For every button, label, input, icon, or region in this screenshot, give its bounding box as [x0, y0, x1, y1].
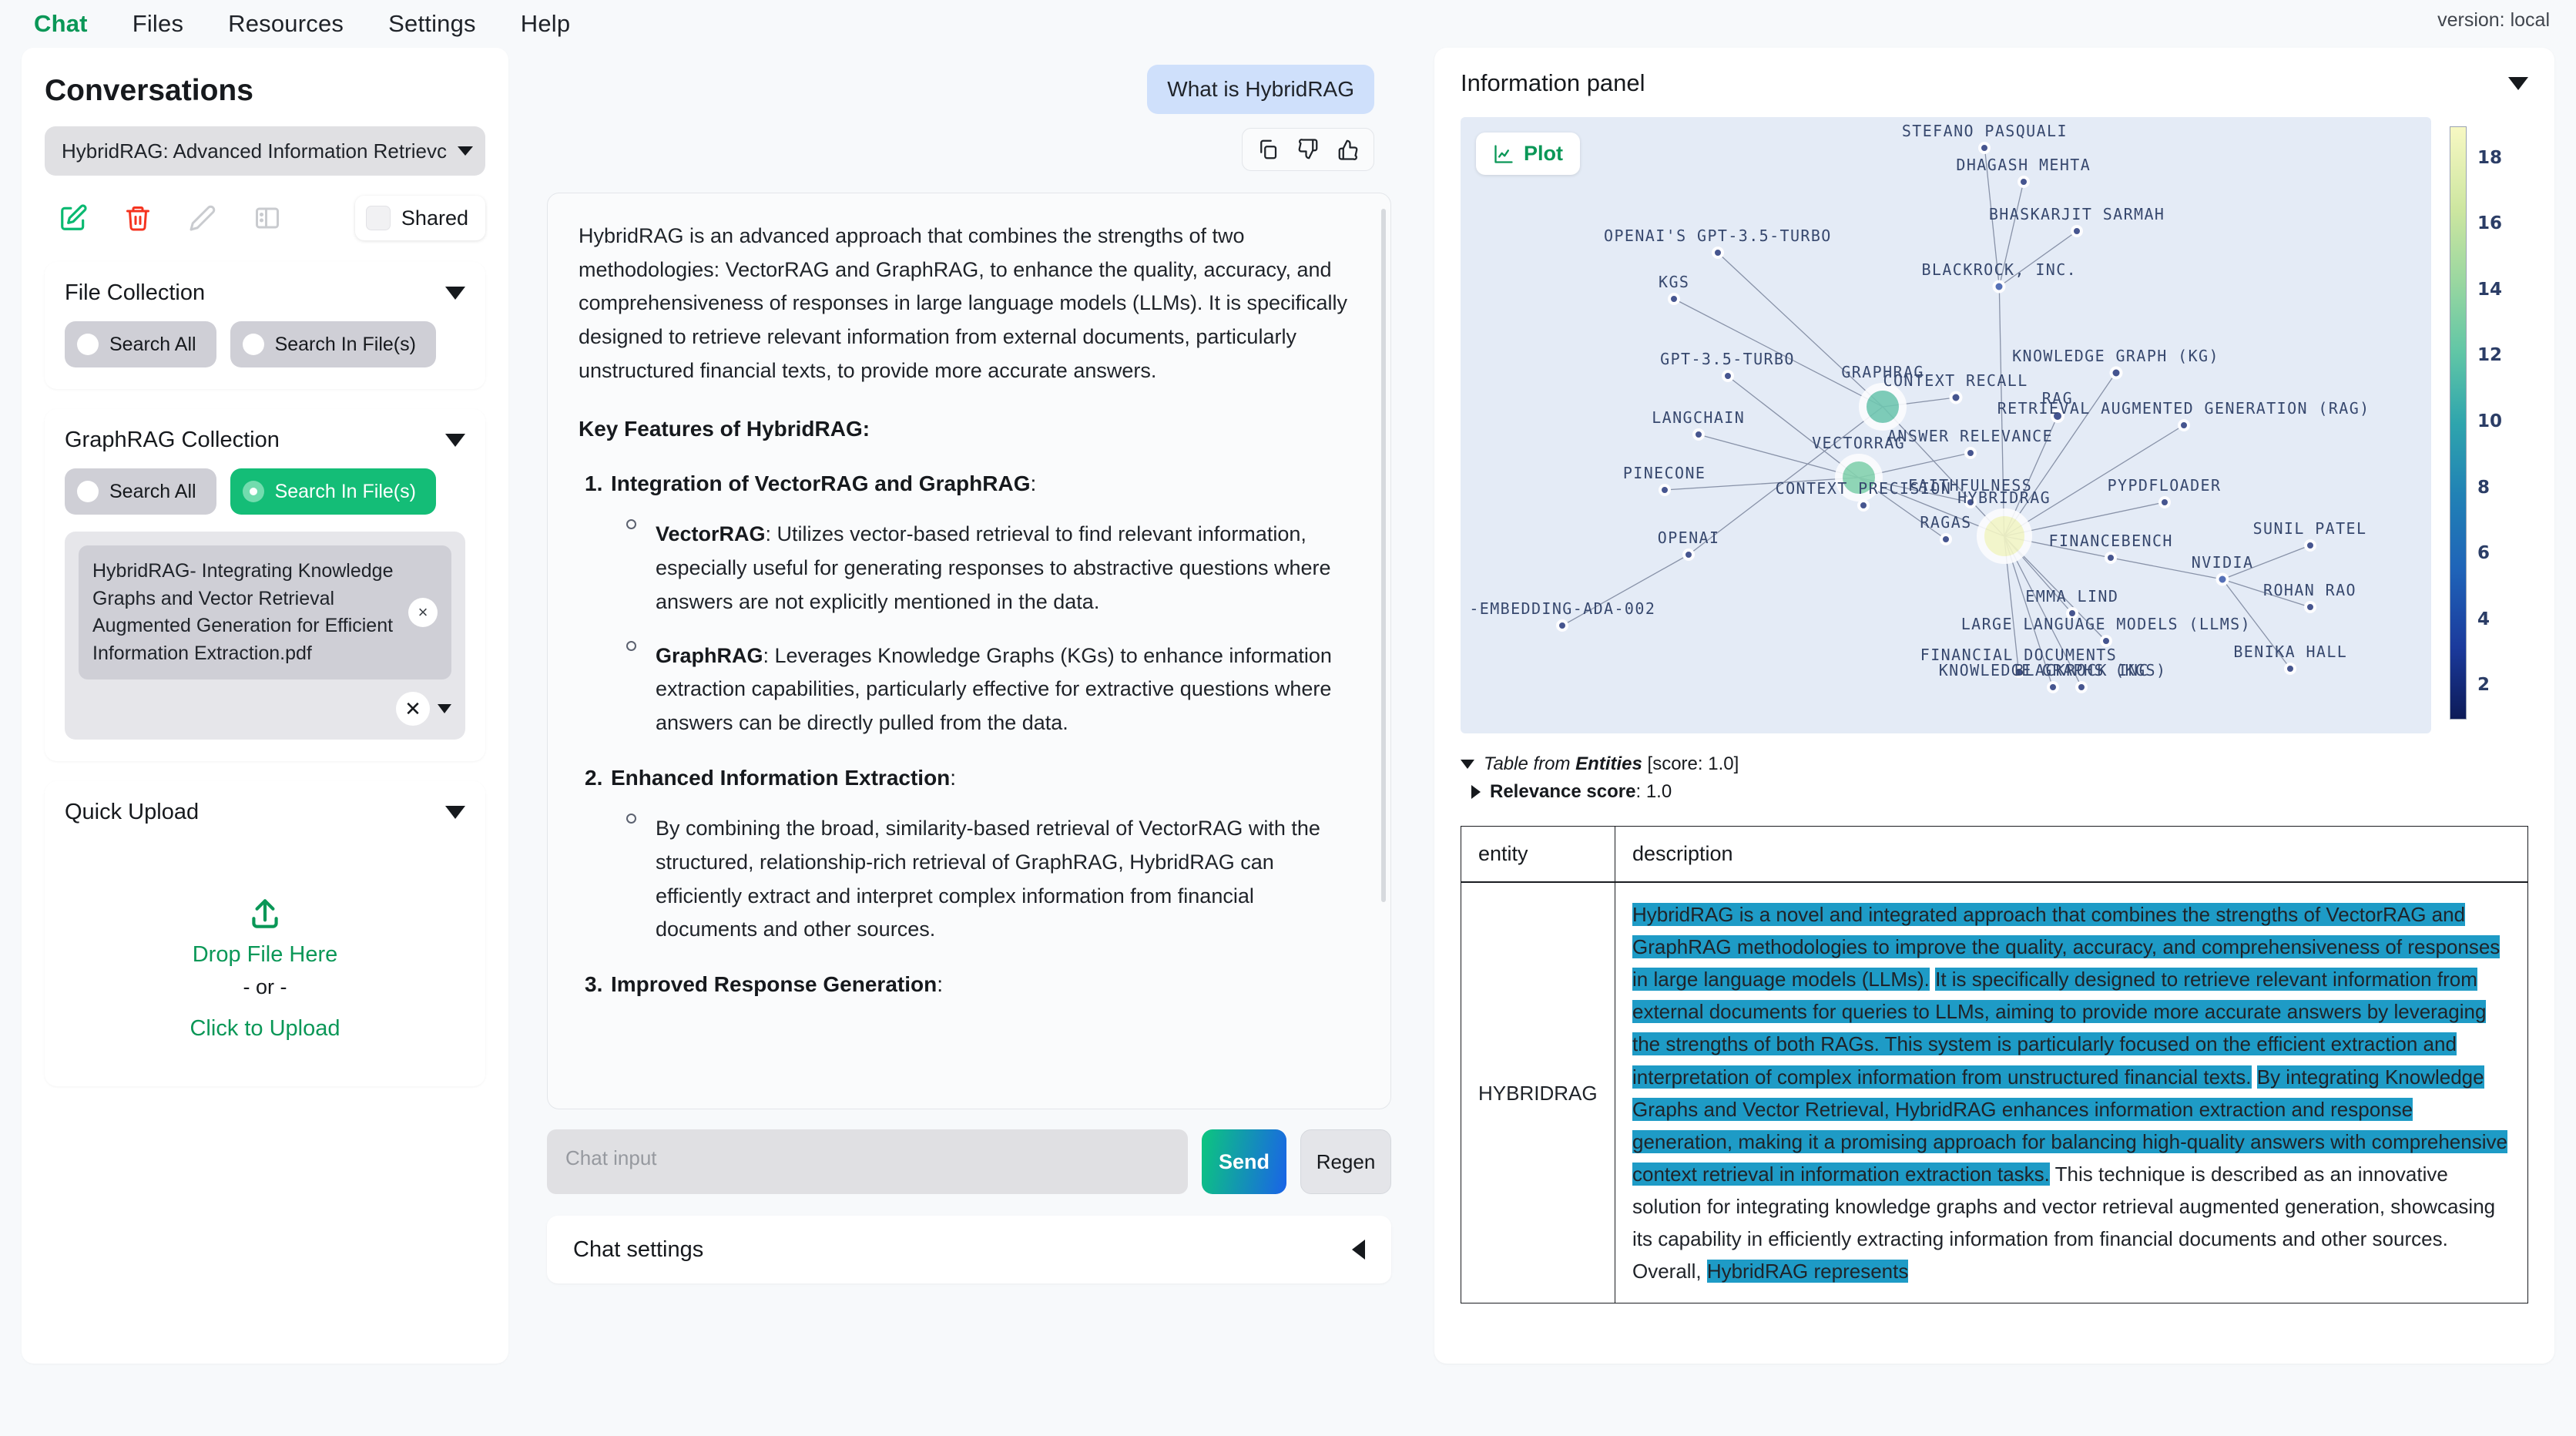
- answer-list-item: 2. Enhanced Information Extraction:: [579, 760, 1360, 795]
- version-label: version: local: [2437, 9, 2550, 32]
- graph-node[interactable]: [1682, 549, 1695, 561]
- graph-node[interactable]: [1692, 428, 1705, 441]
- radio-icon: [77, 481, 99, 502]
- graph-node[interactable]: [1712, 247, 1724, 259]
- message-actions: [1242, 128, 1374, 171]
- graph-node[interactable]: [2158, 496, 2171, 508]
- relevance-score-line[interactable]: Relevance score: 1.0: [1461, 781, 2528, 803]
- shared-label: Shared: [401, 206, 468, 230]
- answer-scrollbar[interactable]: [1381, 209, 1386, 902]
- answer-sub-item: By combining the broad, similarity-based…: [579, 812, 1360, 947]
- expand-relevance-icon[interactable]: [1471, 785, 1481, 799]
- colorbar-gradient: [2450, 126, 2467, 720]
- graph-node-label: EMMA LIND: [2025, 587, 2118, 606]
- graph-node[interactable]: [1993, 280, 2006, 294]
- plain-text: [2252, 1065, 2257, 1089]
- information-panel-header: Information panel: [1461, 69, 2528, 97]
- collapse-information-panel-icon[interactable]: [2508, 77, 2528, 90]
- graphrag-collection-options: Search All Search In File(s): [65, 468, 465, 515]
- files-dropdown-icon[interactable]: [438, 704, 451, 713]
- colorbar-tick-label: 8: [2477, 478, 2490, 498]
- quick-upload-header: Quick Upload: [65, 800, 465, 825]
- file-collection-options: Search All Search In File(s): [65, 321, 465, 367]
- relevance-score-label: Relevance score: [1490, 781, 1635, 802]
- graph-node[interactable]: [1556, 619, 1568, 632]
- table-from-score: [score: 1.0]: [1642, 753, 1739, 774]
- bullet-icon: [626, 641, 636, 651]
- click-to-upload-link[interactable]: Click to Upload: [190, 1016, 340, 1042]
- collapse-file-collection-icon[interactable]: [445, 287, 465, 300]
- graph-nodes: STEFANO PASQUALIDHAGASH MEHTABHASKARJIT …: [1461, 117, 2431, 733]
- chevron-down-icon: [458, 146, 473, 156]
- graph-node[interactable]: [1659, 484, 1671, 496]
- graphrag-collection-card: GraphRAG Collection Search All Search In…: [45, 409, 485, 761]
- graph-node-label: BHASKARJIT SARMAH: [1989, 205, 2165, 223]
- graph-node-label: PYPDFLOADER: [2108, 476, 2222, 495]
- graph-node[interactable]: [1940, 533, 1952, 545]
- graphrag-search-in-files[interactable]: Search In File(s): [230, 468, 436, 515]
- graph-node-label: STEFANO PASQUALI: [1902, 122, 2068, 140]
- assistant-answer-card: HybridRAG is an advanced approach that c…: [547, 193, 1391, 1109]
- colorbar-tick-label: 16: [2477, 213, 2502, 233]
- thumbs-up-icon[interactable]: [1337, 138, 1360, 161]
- graph-node-label: LARGE LANGUAGE MODELS (LLMS): [1961, 615, 2251, 633]
- graph-node[interactable]: [1859, 383, 1907, 431]
- table-from-source: Entities: [1575, 753, 1642, 774]
- colorbar-tick-label: 12: [2477, 345, 2502, 365]
- split-view-button[interactable]: [239, 197, 296, 239]
- relevance-score-value: 1.0: [1646, 781, 1672, 802]
- knowledge-graph-plot[interactable]: Plot STEFANO PASQUALIDHAGASH MEHTABHASKA…: [1461, 117, 2431, 733]
- graphrag-search-in-files-label: Search In File(s): [275, 481, 416, 503]
- sub-item-strong: GraphRAG: [656, 644, 763, 667]
- chat-input-row: Send Regen: [547, 1129, 1391, 1194]
- regen-button[interactable]: Regen: [1300, 1129, 1391, 1194]
- conversation-actions: Shared: [45, 196, 485, 240]
- clear-all-files-button[interactable]: ✕: [396, 692, 430, 726]
- entities-table: entity description HYBRIDRAG HybridRAG i…: [1461, 826, 2528, 1303]
- sub-item-text: By combining the broad, similarity-based…: [656, 817, 1320, 941]
- cell-description: HybridRAG is a novel and integrated appr…: [1615, 882, 2528, 1303]
- graph-node-label: NVIDIA: [2192, 553, 2254, 572]
- selected-files-footer: ✕: [79, 692, 451, 726]
- chevron-left-icon[interactable]: [1352, 1240, 1365, 1260]
- list-item-title-tail: :: [950, 766, 956, 790]
- conversation-selector[interactable]: HybridRAG: Advanced Information Retrievc: [45, 126, 485, 176]
- nav-tab-chat[interactable]: Chat: [34, 10, 88, 38]
- collapse-graphrag-collection-icon[interactable]: [445, 434, 465, 447]
- information-panel-title: Information panel: [1461, 69, 1645, 97]
- nav-tab-resources[interactable]: Resources: [228, 10, 344, 38]
- colorbar-tick-label: 4: [2477, 609, 2490, 629]
- list-item-title: Enhanced Information Extraction: [611, 766, 950, 790]
- table-row: HYBRIDRAG HybridRAG is a novel and integ…: [1461, 882, 2528, 1303]
- file-collection-card: File Collection Search All Search In Fil…: [45, 262, 485, 389]
- graph-node[interactable]: [1949, 391, 1962, 404]
- graph-node-label: -EMBEDDING-ADA-002: [1469, 599, 1655, 618]
- information-panel: Information panel Plot STEFANO PASQUALID…: [1434, 48, 2554, 1364]
- graph-node[interactable]: [2071, 225, 2083, 237]
- graph-node-label: OPENAI'S GPT-3.5-TURBO: [1604, 226, 1832, 245]
- plot-button-label: Plot: [1524, 142, 1563, 166]
- colorbar-tick-label: 14: [2477, 280, 2502, 300]
- selected-file-chip: HybridRAG- Integrating Knowledge Graphs …: [79, 545, 451, 679]
- list-number: 3.: [585, 967, 602, 1002]
- file-collection-title: File Collection: [65, 280, 205, 306]
- upload-icon: [246, 894, 284, 933]
- file-dropzone[interactable]: Drop File Here - or - Click to Upload: [65, 840, 465, 1065]
- graph-node-label: ANSWER RELEVANCE: [1887, 427, 2053, 445]
- radio-selected-icon: [243, 481, 264, 502]
- graphrag-collection-header: GraphRAG Collection: [65, 428, 465, 453]
- graphrag-search-all[interactable]: Search All: [65, 468, 216, 515]
- delete-conversation-button[interactable]: [109, 197, 166, 239]
- graph-node[interactable]: [1978, 142, 1991, 154]
- copy-icon[interactable]: [1256, 138, 1280, 161]
- quick-upload-title: Quick Upload: [65, 800, 199, 825]
- graph-node[interactable]: [2109, 367, 2122, 380]
- graph-node-label: SUNIL PATEL: [2253, 519, 2367, 538]
- answer-features-heading: Key Features of HybridRAG:: [579, 411, 1360, 446]
- bullet-icon: [626, 519, 636, 529]
- answer-sub-item: GraphRAG: Leverages Knowledge Graphs (KG…: [579, 639, 1360, 740]
- graph-node-label: DHAGASH MEHTA: [1956, 156, 2091, 174]
- user-message-row: What is HybridRAG: [530, 48, 1408, 171]
- graph-node-label: HYBRIDRAG: [1957, 488, 2051, 507]
- graph-node-label: KGS: [1659, 273, 1689, 291]
- graph-node[interactable]: [1668, 293, 1680, 305]
- graph-node[interactable]: [2304, 539, 2316, 552]
- graph-node-label: RAGAS: [1920, 513, 1971, 532]
- radio-icon: [77, 334, 99, 355]
- answer-list-item: 3. Improved Response Generation:: [579, 967, 1360, 1002]
- file-collection-search-all[interactable]: Search All: [65, 321, 216, 367]
- table-source-line[interactable]: Table from Entities [score: 1.0]: [1461, 753, 2528, 775]
- plot-button[interactable]: Plot: [1476, 133, 1580, 175]
- answer-sub-item: VectorRAG: Utilizes vector-based retriev…: [579, 518, 1360, 619]
- file-collection-search-all-label: Search All: [109, 334, 196, 356]
- colorbar-tick-label: 2: [2477, 675, 2490, 695]
- bullet-icon: [626, 814, 636, 824]
- page-title: Conversations: [45, 74, 485, 108]
- list-item-title-tail: :: [1030, 471, 1036, 495]
- shared-checkbox[interactable]: [366, 206, 391, 230]
- graph-node-label: KNOWLEDGE GRAPH (KG): [2012, 347, 2219, 365]
- drop-file-label: Drop File Here: [193, 942, 338, 968]
- graph-node-label: RETRIEVAL AUGMENTED GENERATION (RAG): [1997, 399, 2370, 418]
- graph-node[interactable]: [1857, 499, 1870, 512]
- graph-node-label: BLACKROCK INC: [2014, 661, 2149, 679]
- graph-node-label: LANGCHAIN: [1652, 408, 1745, 427]
- colorbar-tick-label: 6: [2477, 543, 2490, 563]
- list-item-title-tail: :: [937, 972, 943, 996]
- answer-list-item: 1. Integration of VectorRAG and GraphRAG…: [579, 466, 1360, 501]
- chat-settings-label: Chat settings: [573, 1237, 703, 1263]
- graph-node[interactable]: [2216, 573, 2229, 586]
- column-header-description: description: [1615, 827, 2528, 883]
- file-collection-header: File Collection: [65, 280, 465, 306]
- table-header-row: entity description: [1461, 827, 2528, 883]
- table-from-prefix: Table from: [1484, 753, 1575, 774]
- colorbar-tick-label: 18: [2477, 148, 2502, 168]
- chat-settings-bar[interactable]: Chat settings: [547, 1216, 1391, 1283]
- list-number: 1.: [585, 466, 602, 501]
- page-body: Conversations HybridRAG: Advanced Inform…: [0, 48, 2576, 1436]
- chart-icon: [1493, 143, 1514, 165]
- new-conversation-button[interactable]: [45, 197, 102, 239]
- graphrag-collection-title: GraphRAG Collection: [65, 428, 280, 453]
- trash-icon: [124, 204, 152, 232]
- upload-or-label: - or -: [243, 975, 287, 999]
- list-item-title: Improved Response Generation: [611, 972, 937, 996]
- graph-node[interactable]: [2304, 601, 2316, 613]
- graph-node[interactable]: [2284, 663, 2296, 675]
- selected-files-container: HybridRAG- Integrating Knowledge Graphs …: [65, 532, 465, 740]
- new-conversation-icon: [59, 203, 88, 233]
- highlighted-text: HybridRAG represents: [1707, 1260, 1909, 1283]
- nav-tab-settings[interactable]: Settings: [388, 10, 476, 38]
- graph-plot-wrapper: Plot STEFANO PASQUALIDHAGASH MEHTABHASKA…: [1461, 117, 2528, 733]
- colorbar: 24681012141618: [2444, 117, 2528, 733]
- cell-entity: HYBRIDRAG: [1461, 882, 1615, 1303]
- list-item-title: Integration of VectorRAG and GraphRAG: [611, 471, 1030, 495]
- conversation-name: HybridRAG: Advanced Information Retrievc: [62, 139, 447, 163]
- graph-node-label: BENIKA HALL: [2233, 643, 2347, 661]
- shared-toggle[interactable]: Shared: [355, 196, 485, 240]
- pencil-icon: [189, 204, 216, 232]
- user-message-bubble: What is HybridRAG: [1147, 65, 1374, 114]
- graph-node[interactable]: [2178, 419, 2190, 431]
- selected-file-name: HybridRAG- Integrating Knowledge Graphs …: [92, 558, 397, 667]
- remove-file-button[interactable]: ×: [408, 598, 438, 627]
- graph-node[interactable]: [1964, 447, 1977, 459]
- graph-node-label: BLACKROCK, INC.: [1921, 260, 2077, 279]
- collapse-quick-upload-icon[interactable]: [445, 806, 465, 819]
- radio-icon: [243, 334, 264, 355]
- graph-node-label: GPT-3.5-TURBO: [1660, 350, 1795, 368]
- nav-tab-files[interactable]: Files: [132, 10, 183, 38]
- sub-item-strong: VectorRAG: [656, 522, 766, 545]
- graph-node-label: PINECONE: [1623, 464, 1706, 482]
- graph-node[interactable]: [1722, 370, 1734, 382]
- list-number: 2.: [585, 760, 602, 795]
- nav-tab-help[interactable]: Help: [521, 10, 571, 38]
- graph-node[interactable]: [2018, 176, 2030, 188]
- chat-input[interactable]: [547, 1129, 1188, 1194]
- retrieval-metadata: Table from Entities [score: 1.0] Relevan…: [1461, 753, 2528, 803]
- send-button[interactable]: Send: [1202, 1129, 1286, 1194]
- chat-column: What is HybridRAG HybridRAG is an advanc…: [530, 48, 1408, 1404]
- top-navigation: Chat Files Resources Settings Help versi…: [0, 0, 2576, 48]
- expand-table-source-icon[interactable]: [1461, 760, 1474, 769]
- graph-node[interactable]: [2047, 681, 2059, 693]
- graph-node[interactable]: [1977, 508, 2032, 564]
- graph-node-label: OPENAI: [1658, 528, 1720, 547]
- colorbar-tick-label: 10: [2477, 411, 2502, 431]
- rename-conversation-button[interactable]: [174, 197, 231, 239]
- graph-node-label: CONTEXT RECALL: [1883, 371, 2028, 390]
- graphrag-search-all-label: Search All: [109, 481, 196, 503]
- graph-node-label: FINANCEBENCH: [2049, 532, 2173, 550]
- graph-node[interactable]: [2105, 552, 2117, 564]
- graph-node-label: ROHAN RAO: [2263, 581, 2356, 599]
- graph-node[interactable]: [2075, 681, 2088, 693]
- file-collection-search-in-files[interactable]: Search In File(s): [230, 321, 436, 367]
- quick-upload-card: Quick Upload Drop File Here - or - Click…: [45, 781, 485, 1086]
- thumbs-down-icon[interactable]: [1296, 138, 1320, 161]
- answer-intro: HybridRAG is an advanced approach that c…: [579, 220, 1360, 388]
- split-view-icon: [253, 204, 281, 232]
- file-collection-search-in-files-label: Search In File(s): [275, 334, 416, 356]
- sidebar: Conversations HybridRAG: Advanced Inform…: [22, 48, 508, 1364]
- column-header-entity: entity: [1461, 827, 1615, 883]
